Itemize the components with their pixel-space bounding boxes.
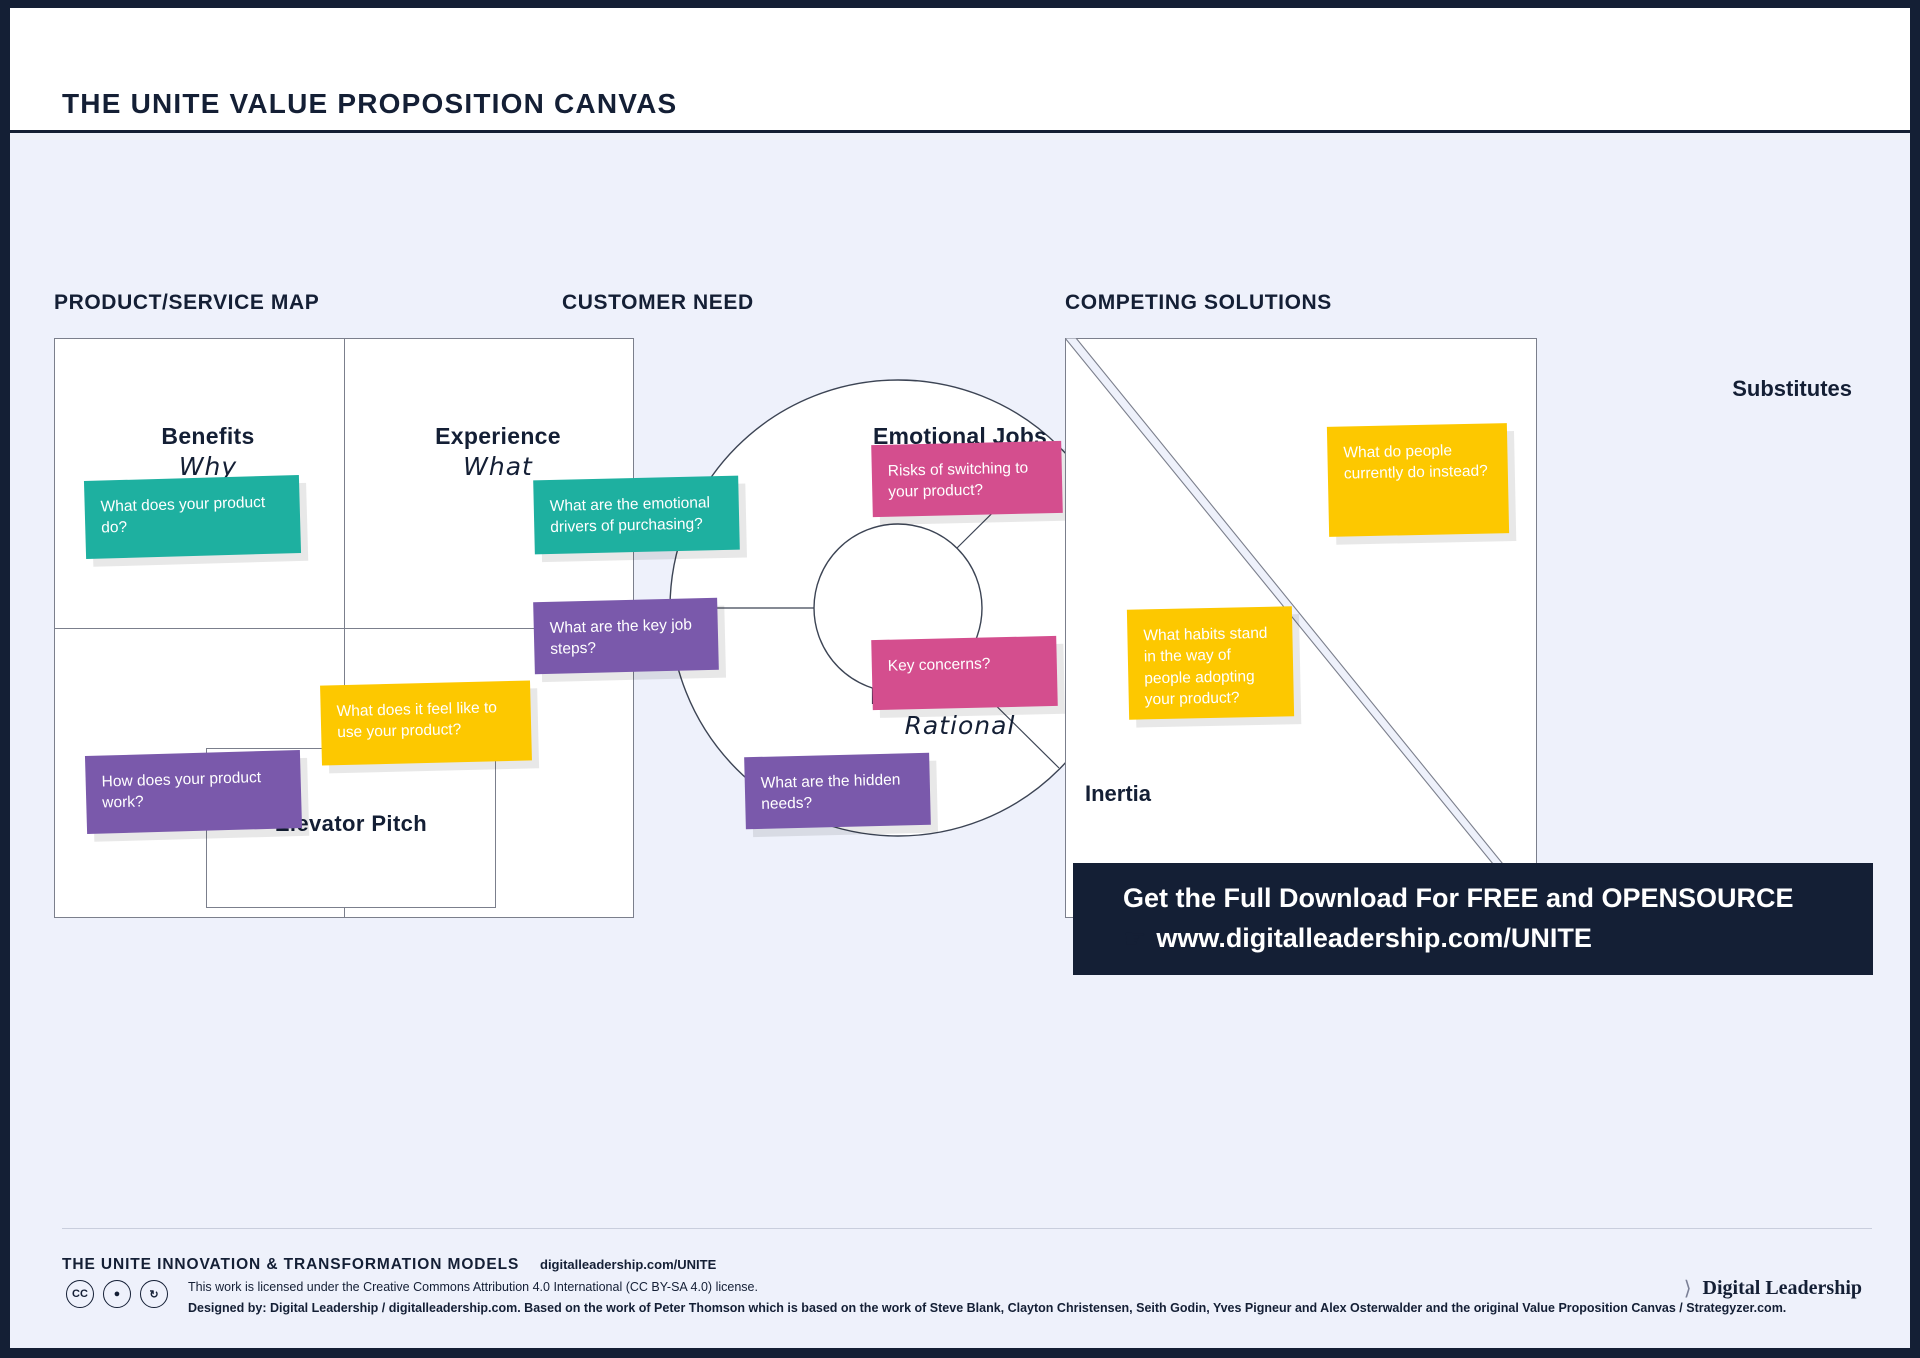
frame-border-top <box>0 0 1920 8</box>
footer: THE UNITE INNOVATION & TRANSFORMATION MO… <box>10 1228 1910 1348</box>
frame-border-right <box>1910 0 1920 1358</box>
footer-models-title: THE UNITE INNOVATION & TRANSFORMATION MO… <box>62 1256 519 1274</box>
note-what-does-it-feel-like[interactable]: What does it feel like to use your produ… <box>320 680 532 765</box>
cta-url-row[interactable]: ☞ www.digitalleadership.com/UNITE <box>1123 923 1592 954</box>
section-title-product-service-map: PRODUCT/SERVICE MAP <box>54 291 319 315</box>
quadrant-experience: Experience What <box>378 423 618 481</box>
quadrant-benefits-title: Benefits <box>88 423 328 450</box>
inertia-label: Inertia <box>1085 781 1151 807</box>
title-bar: THE UNITE VALUE PROPOSITION CANVAS <box>10 8 1910 133</box>
quadrant-experience-title: Experience <box>378 423 618 450</box>
cta-banner[interactable]: Get the Full Download For FREE and OPENS… <box>1073 863 1873 975</box>
quadrant-experience-subtitle: What <box>378 452 618 481</box>
footer-designed-by: Designed by: Digital Leadership / digita… <box>188 1301 1786 1315</box>
page-title: THE UNITE VALUE PROPOSITION CANVAS <box>62 88 677 120</box>
cc-sa-icon: ↻ <box>140 1280 168 1308</box>
section-title-competing-solutions: COMPETING SOLUTIONS <box>1065 291 1332 315</box>
cc-by-icon: ● <box>103 1280 131 1308</box>
canvas-area: PRODUCT/SERVICE MAP Benefits Why Experie… <box>10 133 1910 1348</box>
chevron-right-icon: ⟩ <box>1684 1276 1692 1300</box>
note-how-does-your-product-work[interactable]: How does your product work? <box>85 750 302 834</box>
creative-commons-icons: CC ● ↻ <box>66 1280 168 1308</box>
footer-license-text: This work is licensed under the Creative… <box>188 1280 758 1294</box>
note-what-habits-stand-in-the-way[interactable]: What habits stand in the way of people a… <box>1127 606 1294 719</box>
digital-leadership-logo: ⟩ Digital Leadership <box>1684 1276 1862 1300</box>
quadrant-benefits: Benefits Why <box>88 423 328 481</box>
note-key-concerns[interactable]: Key concerns? <box>871 636 1058 710</box>
note-key-job-steps[interactable]: What are the key job steps? <box>533 598 719 674</box>
note-what-do-people-currently-do[interactable]: What do people currently do instead? <box>1327 423 1509 537</box>
cta-headline: Get the Full Download For FREE and OPENS… <box>1123 883 1794 914</box>
substitutes-label: Substitutes <box>1732 376 1852 402</box>
brand-name: Digital Leadership <box>1703 1277 1862 1300</box>
note-emotional-drivers[interactable]: What are the emotional drivers of purcha… <box>533 476 740 555</box>
pointing-hand-icon: ☞ <box>1123 924 1146 954</box>
note-risks-of-switching[interactable]: Risks of switching to your product? <box>871 441 1063 517</box>
note-what-does-your-product-do[interactable]: What does your product do? <box>84 475 301 559</box>
cta-url[interactable]: www.digitalleadership.com/UNITE <box>1156 923 1592 954</box>
footer-url[interactable]: digitalleadership.com/UNITE <box>540 1257 716 1272</box>
cc-icon: CC <box>66 1280 94 1308</box>
footer-divider <box>62 1228 1872 1229</box>
note-hidden-needs[interactable]: What are the hidden needs? <box>744 753 931 829</box>
frame-border-left <box>0 0 10 1358</box>
frame-border-bottom <box>0 1348 1920 1358</box>
